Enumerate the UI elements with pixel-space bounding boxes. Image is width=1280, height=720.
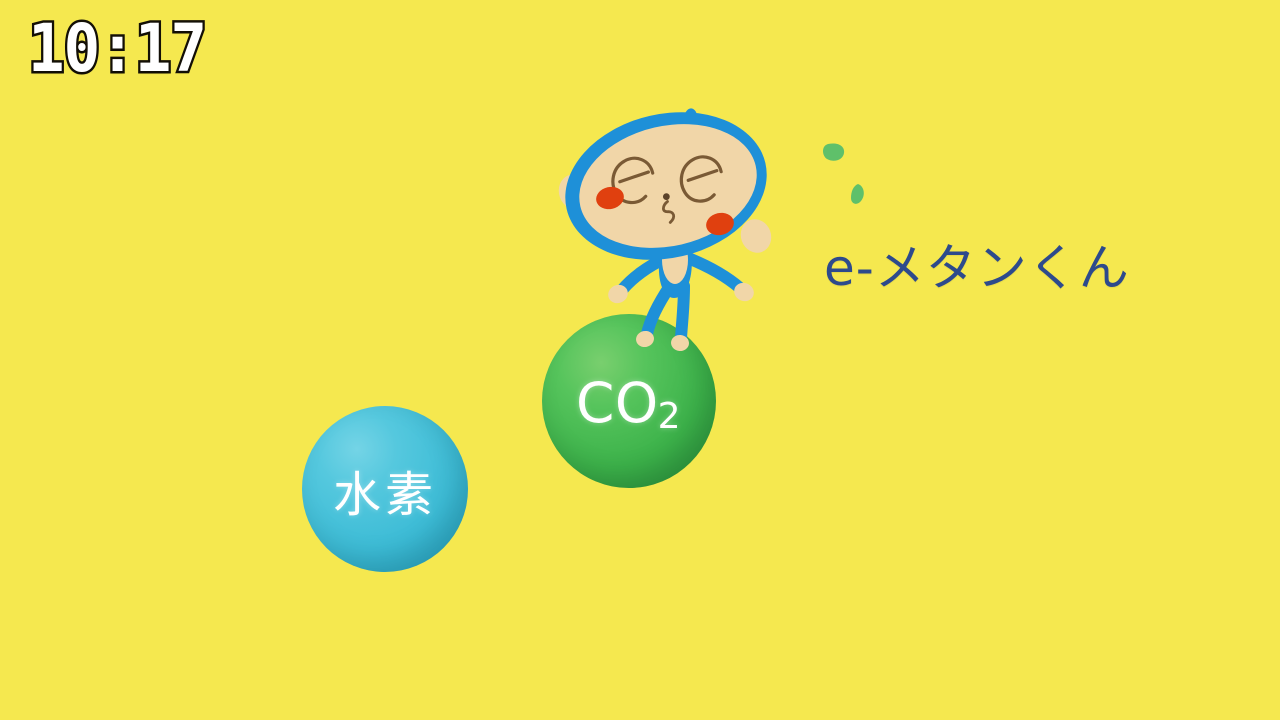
molecule-label-co2: CO2	[576, 371, 682, 435]
timer-display: 10:17	[28, 16, 206, 82]
molecule-label-co2-main: CO	[576, 371, 659, 435]
character-legs	[635, 286, 690, 352]
leaf-sparkle-small-icon	[851, 184, 864, 204]
leaf-sparkle-icon	[823, 143, 844, 160]
molecule-label-hydrogen: 水素	[333, 455, 437, 525]
sparkle-leaves-group	[812, 132, 892, 222]
molecule-ball-hydrogen[interactable]: 水素	[302, 406, 468, 572]
character-head	[550, 108, 781, 279]
character-e-methane-kun[interactable]	[548, 108, 798, 358]
molecule-label-co2-subscript: 2	[658, 396, 681, 437]
scene-canvas: 10:17 水素 CO2	[0, 0, 1280, 720]
character-name-label: e-メタンくん	[824, 228, 1130, 300]
character-arm-right	[688, 258, 740, 288]
